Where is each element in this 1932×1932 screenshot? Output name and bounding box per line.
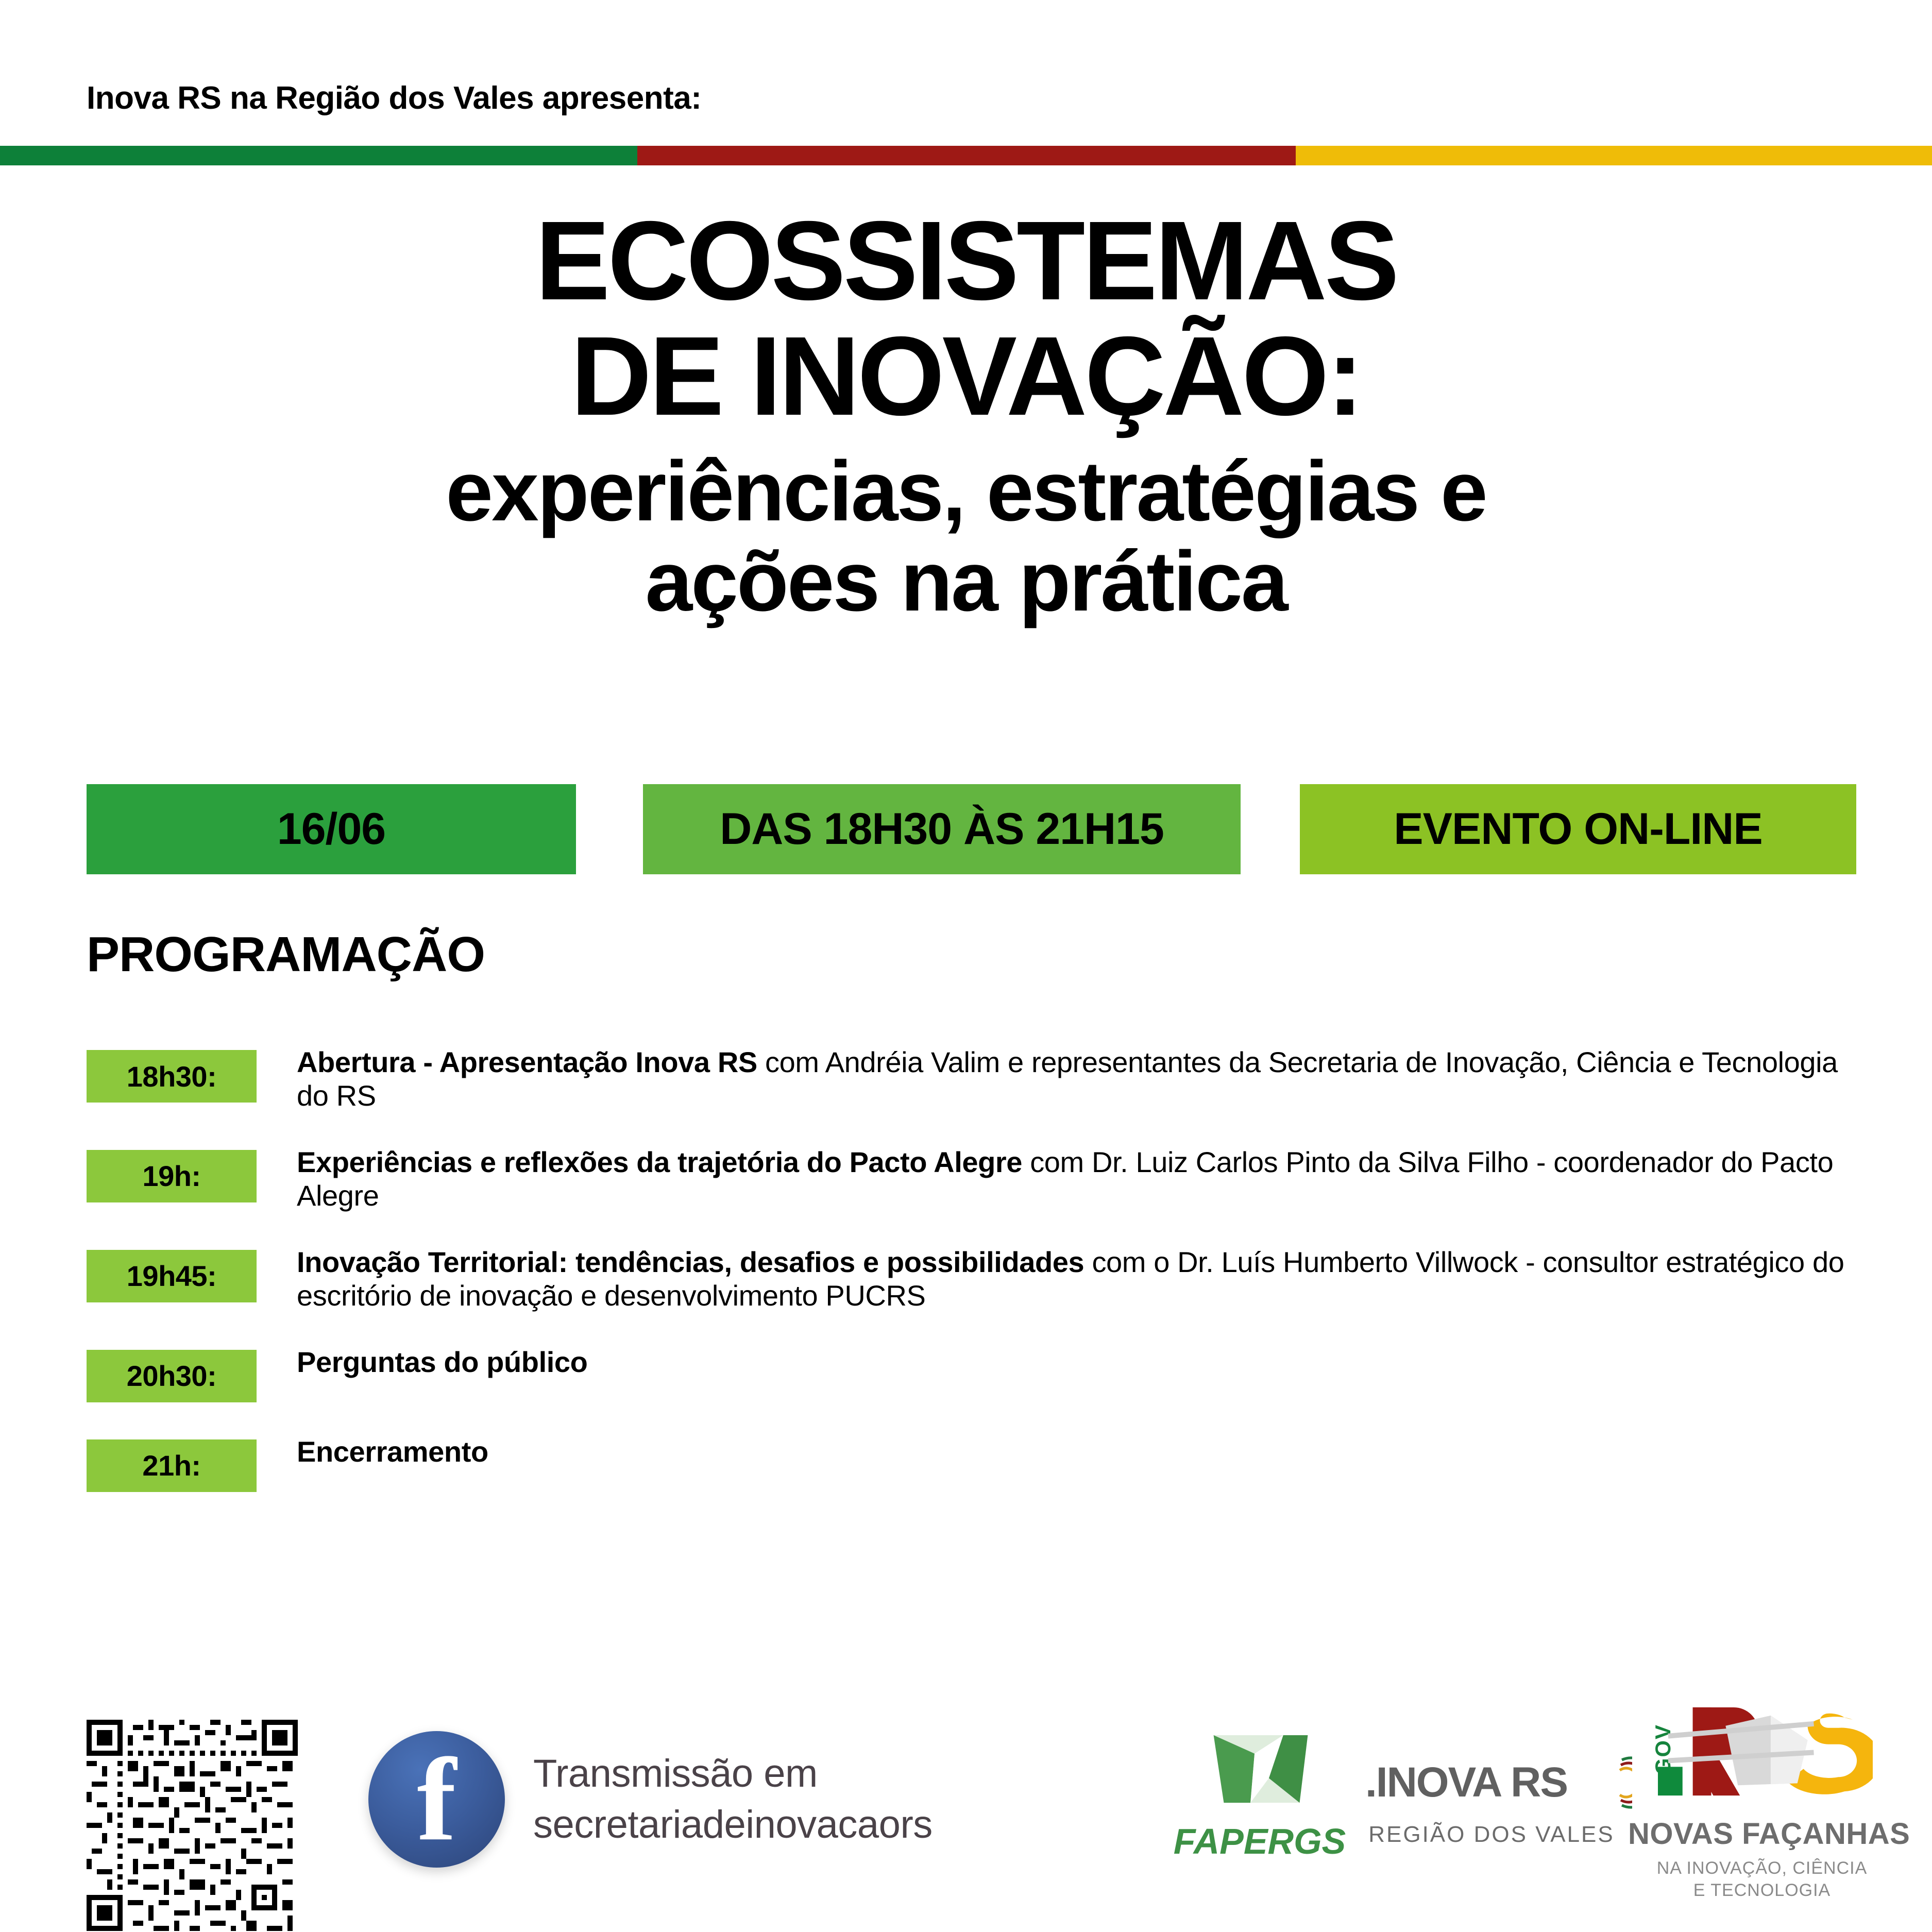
- schedule-time-chip: 19h45:: [87, 1250, 257, 1302]
- schedule-time-chip: 18h30:: [87, 1050, 257, 1103]
- fapergs-logo: FAPERGS: [1162, 1731, 1358, 1862]
- schedule-row: 20h30: Perguntas do público: [87, 1342, 1849, 1402]
- badge-date: 16/06: [87, 784, 576, 874]
- subtitle-line-1: experiências, estratégias e: [0, 446, 1932, 536]
- schedule-title: Encerramento: [297, 1435, 488, 1468]
- schedule-title: Perguntas do público: [297, 1346, 587, 1378]
- schedule-row: 19h45: Inovação Territorial: tendências,…: [87, 1242, 1849, 1313]
- schedule-time-chip: 20h30:: [87, 1350, 257, 1402]
- schedule-description: Perguntas do público: [297, 1342, 1849, 1379]
- rs-gov-logo: GOV NOVAS FAÇANHAS NA INOVAÇÃO, CIÊNCIA …: [1628, 1701, 1896, 1901]
- schedule-description: Experiências e reflexões da trajetória d…: [297, 1142, 1849, 1213]
- tricolor-rule: [0, 146, 1932, 165]
- tricolor-segment-red: [637, 146, 1296, 165]
- facebook-f-glyph: f: [368, 1753, 505, 1845]
- broadcast-block[interactable]: f Transmissão em secretariadeinovacaors: [368, 1731, 933, 1868]
- schedule-description: Encerramento: [297, 1431, 1849, 1469]
- schedule-heading: PROGRAMAÇÃO: [87, 926, 485, 983]
- schedule-description: Inovação Territorial: tendências, desafi…: [297, 1242, 1849, 1313]
- title-line-1: ECOSSISTEMAS: [0, 205, 1932, 317]
- inova-rs-wordmark: .INOVA RS: [1365, 1758, 1567, 1807]
- fapergs-wordmark: FAPERGS: [1162, 1821, 1358, 1862]
- badge-time: DAS 18H30 ÀS 21H15: [643, 784, 1241, 874]
- schedule-time-chip: 19h:: [87, 1150, 257, 1202]
- schedule-title: Experiências e reflexões da trajetória d…: [297, 1146, 1022, 1178]
- tricolor-segment-green: [0, 146, 637, 165]
- facebook-icon[interactable]: f: [368, 1731, 505, 1868]
- schedule-description: Abertura - Apresentação Inova RS com And…: [297, 1042, 1849, 1113]
- broadcast-line-2: secretariadeinovacaors: [533, 1800, 933, 1851]
- inova-rs-arcs-icon: [1570, 1752, 1632, 1814]
- schedule-row: 19h: Experiências e reflexões da trajetó…: [87, 1142, 1849, 1213]
- qr-code-icon[interactable]: [87, 1720, 298, 1931]
- schedule-row: 18h30: Abertura - Apresentação Inova RS …: [87, 1042, 1849, 1113]
- rs-gov-subtagline-line-2: E TECNOLOGIA: [1628, 1879, 1896, 1902]
- rs-gov-subtagline: NA INOVAÇÃO, CIÊNCIA E TECNOLOGIA: [1628, 1857, 1896, 1901]
- broadcast-line-1: Transmissão em: [533, 1749, 933, 1800]
- rs-gov-tagline: NOVAS FAÇANHAS: [1628, 1817, 1896, 1851]
- badge-event-format: EVENTO ON-LINE: [1300, 784, 1856, 874]
- schedule-time-chip: 21h:: [87, 1439, 257, 1492]
- rs-gov-mark-icon: GOV: [1651, 1701, 1873, 1807]
- subtitle-line-2: ações na prática: [0, 536, 1932, 626]
- schedule-row: 21h: Encerramento: [87, 1431, 1849, 1492]
- tricolor-segment-yellow: [1296, 146, 1932, 165]
- presenter-line: Inova RS na Região dos Vales apresenta:: [87, 80, 701, 116]
- footer: f Transmissão em secretariadeinovacaors …: [0, 1674, 1932, 1932]
- fapergs-mark-icon: [1193, 1731, 1327, 1811]
- page-title: ECOSSISTEMAS DE INOVAÇÃO: experiências, …: [0, 205, 1932, 626]
- inova-rs-subtitle: REGIÃO DOS VALES: [1365, 1822, 1654, 1848]
- inova-rs-logo: .INOVA RS REGIÃO DOS VALES: [1365, 1752, 1654, 1848]
- rs-gov-subtagline-line-1: NA INOVAÇÃO, CIÊNCIA: [1628, 1857, 1896, 1879]
- broadcast-text: Transmissão em secretariadeinovacaors: [533, 1749, 933, 1851]
- schedule-list: 18h30: Abertura - Apresentação Inova RS …: [87, 1042, 1849, 1521]
- event-meta-badges: 16/06 DAS 18H30 ÀS 21H15 EVENTO ON-LINE: [87, 784, 1856, 874]
- title-line-2: DE INOVAÇÃO:: [0, 320, 1932, 433]
- schedule-title: Abertura - Apresentação Inova RS: [297, 1046, 757, 1078]
- schedule-title: Inovação Territorial: tendências, desafi…: [297, 1246, 1084, 1278]
